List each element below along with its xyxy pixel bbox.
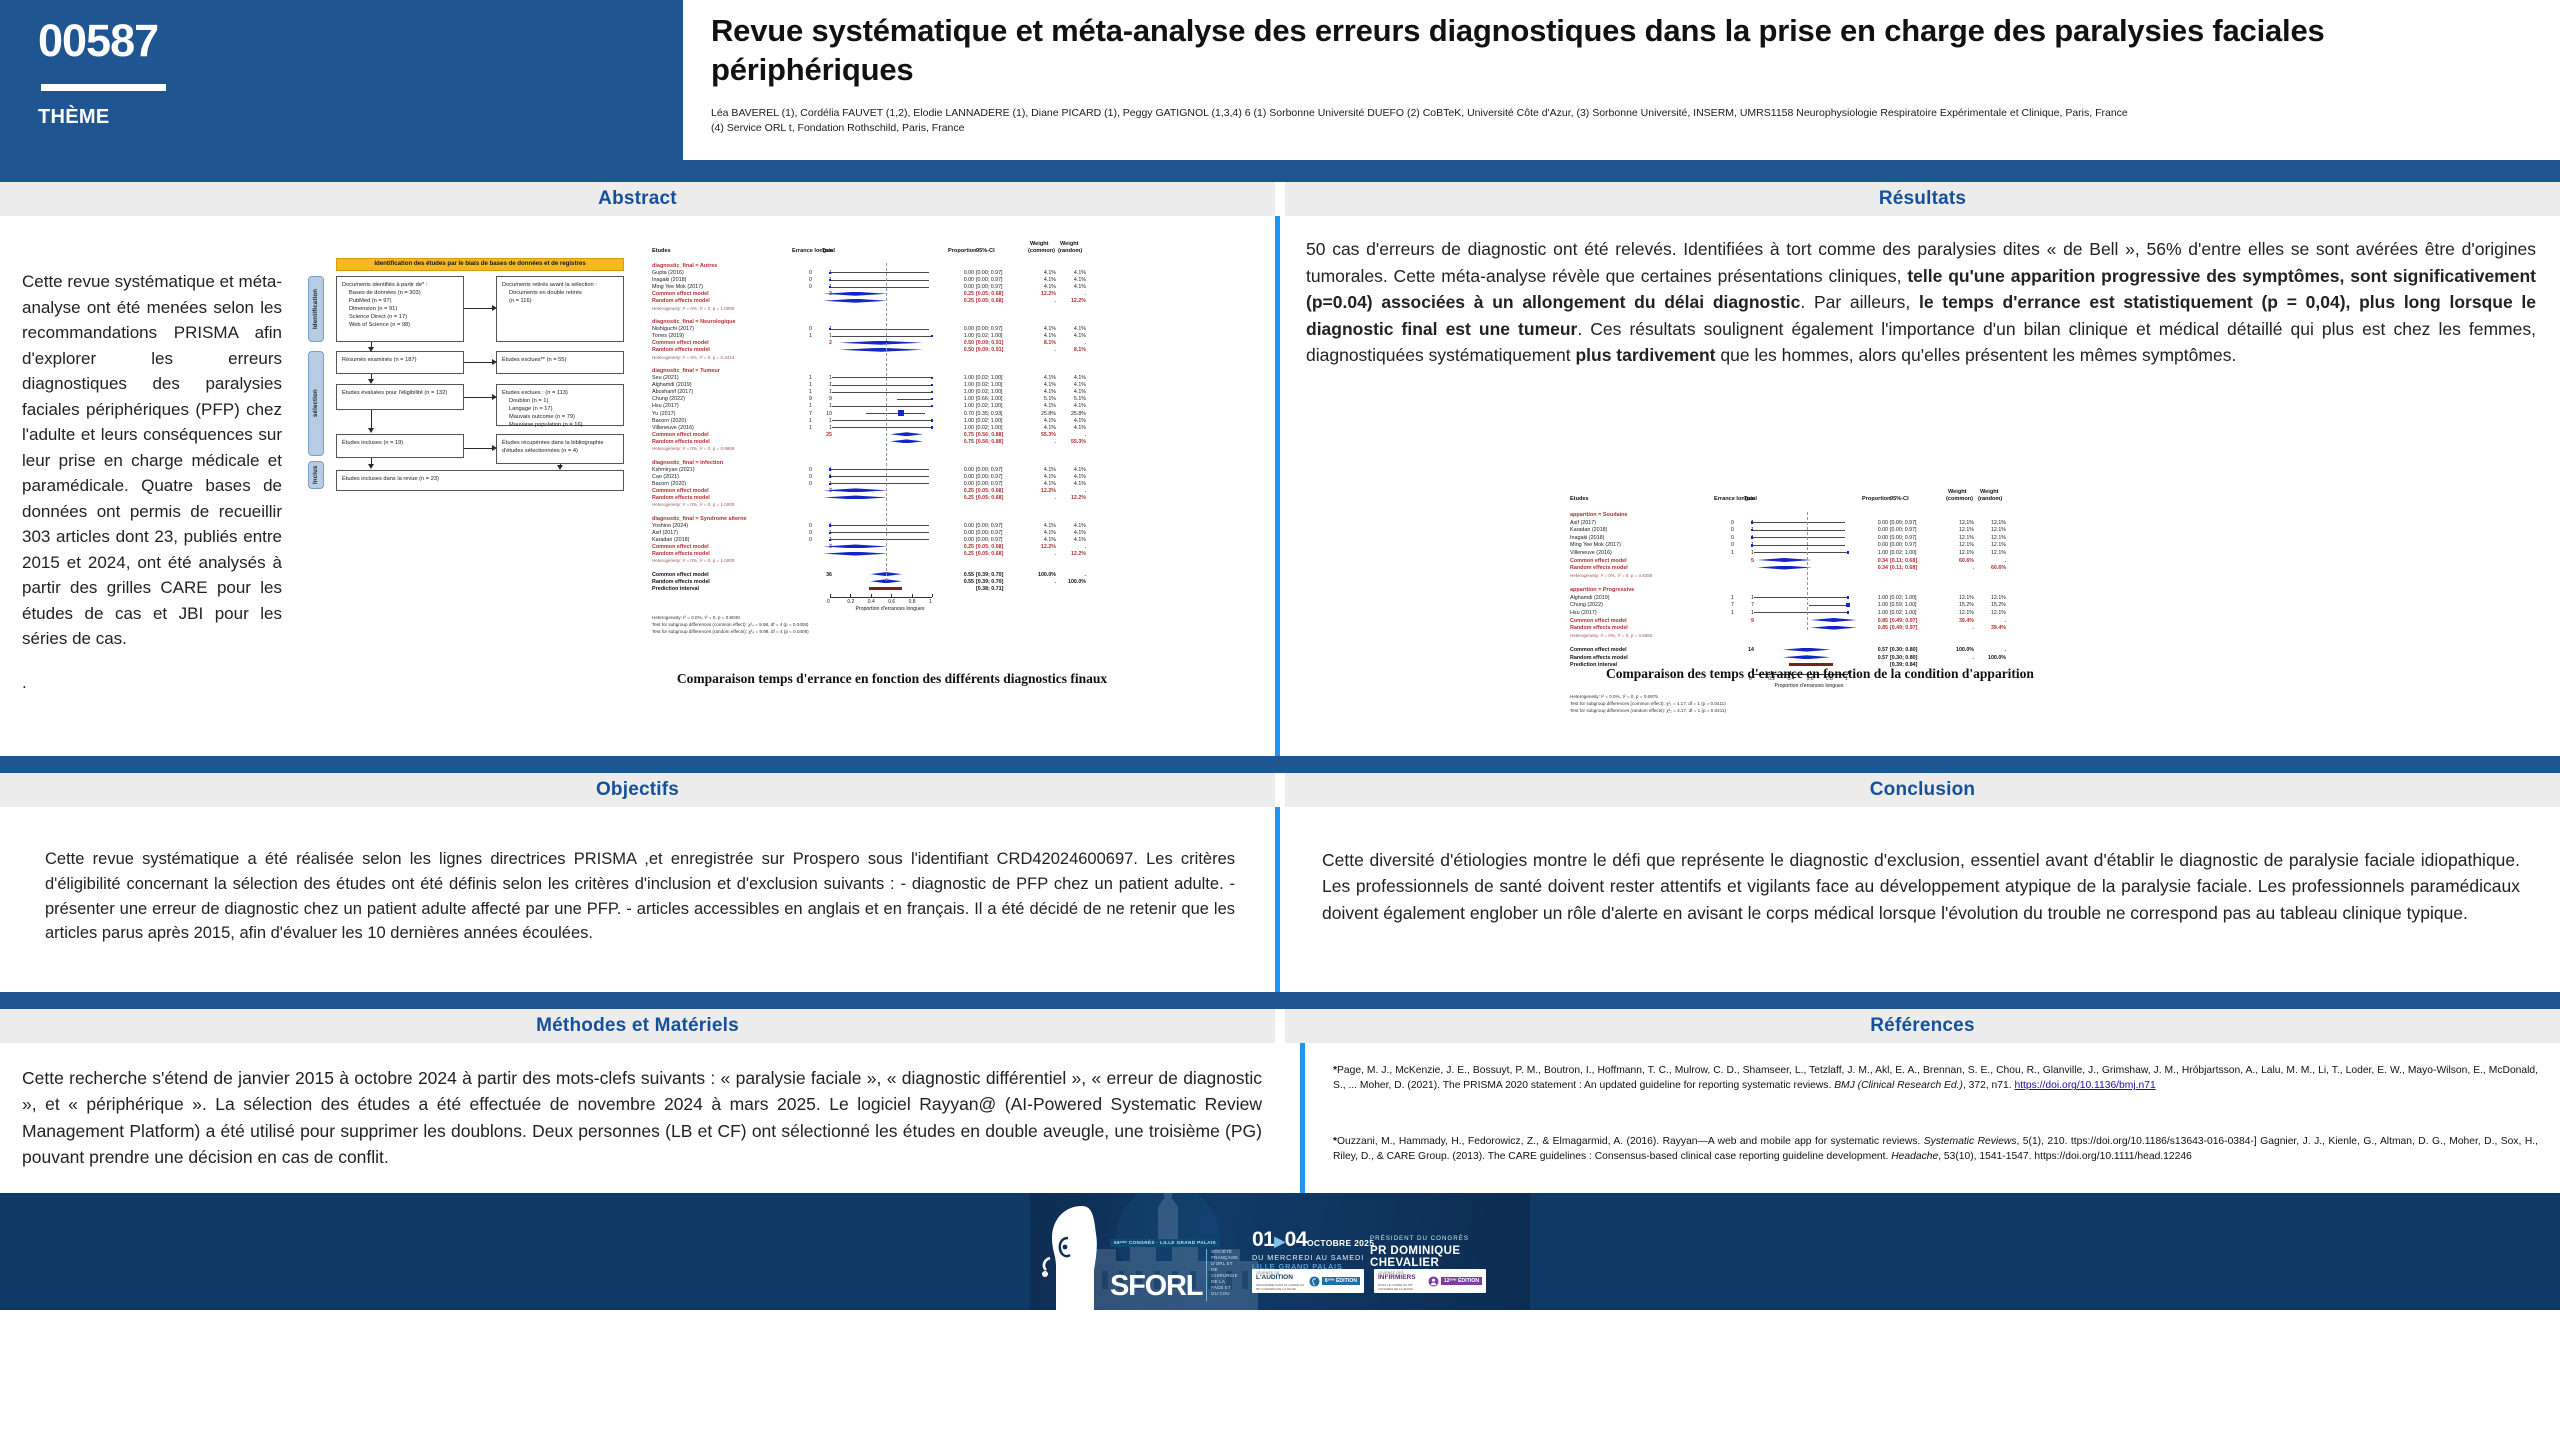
- forest-events: 0: [798, 523, 812, 529]
- forest-proportion: 0.25: [952, 551, 974, 557]
- president-name: PR DOMINIQUE CHEVALIER: [1370, 1245, 1530, 1269]
- conclusion-column: Cette diversité d'étiologies montre le d…: [1275, 807, 2560, 992]
- forest-xlabel: Proportion d'errances longues: [824, 606, 956, 612]
- forest-weight-random: 4.1%: [1062, 530, 1086, 536]
- forest-ci-line: [832, 377, 932, 378]
- forest-events: 9: [798, 396, 812, 402]
- poster-number: 00587: [38, 18, 680, 63]
- forest-proportion: 1.00: [1866, 610, 1888, 616]
- forest-point-marker: [1751, 544, 1754, 547]
- forest-proportion: 1.00: [952, 396, 974, 402]
- forest-weight-common: 12.1%: [1950, 535, 1974, 541]
- forest-ci-line: [830, 287, 929, 288]
- header-blue-bar: [0, 160, 2560, 182]
- prisma-b1-l3: Dimension (n = 91): [342, 305, 458, 313]
- forest-study-label: Inagaki (2018): [1570, 535, 1604, 541]
- forest-weight-random: .: [1982, 558, 2006, 564]
- forest-axis-tick-label: 0.8: [909, 599, 916, 605]
- society-line-3: DE LA FACE ET DU COU: [1211, 1279, 1238, 1297]
- forest-weight-random: 4.1%: [1062, 277, 1086, 283]
- forest-model-label: Common effect model: [1570, 618, 1627, 624]
- forest-model-label: Common effect model: [652, 432, 709, 438]
- forest-ci: [0.00; 0.97]: [976, 284, 1020, 290]
- forest-proportion: 0.34: [1866, 565, 1888, 571]
- forest-point-marker: [829, 328, 831, 330]
- forest-prediction-bar: [869, 587, 903, 590]
- forest-group-label: diagnostic_final = Infection: [652, 460, 723, 466]
- prisma-b7-l2: (n = 19): [383, 440, 403, 446]
- forest-total: 1: [818, 375, 832, 381]
- forest-weight-random: .: [1062, 432, 1086, 438]
- prisma-b8-l3: sélectionnées: [525, 448, 560, 454]
- abstract-column: Cette revue systématique et méta-analyse…: [0, 216, 1275, 756]
- forest-proportion: 0.25: [952, 298, 974, 304]
- forest-point-marker: [829, 475, 831, 477]
- forest-events: 1: [798, 375, 812, 381]
- forest-axis-tick-label: 0.4: [868, 599, 875, 605]
- forest-total: 1: [1740, 610, 1754, 616]
- forest-weight-common: .: [1032, 551, 1056, 557]
- forest-ci-line: [1752, 537, 1845, 538]
- forest-weight-random: .: [1062, 488, 1086, 494]
- forest-study-label: Karadan (2018): [652, 537, 689, 543]
- forest-weight-common: 4.1%: [1032, 277, 1056, 283]
- ref2-journal-1: Systematic Reviews: [1924, 1136, 2017, 1147]
- forest-ci: [0.00; 0.97]: [976, 481, 1020, 487]
- forest-point-marker: [898, 410, 904, 416]
- forest-study-label: Karadan (2018): [1570, 527, 1607, 533]
- forest-weight-random: 4.1%: [1062, 326, 1086, 332]
- section-title-conclusion: Conclusion: [1870, 779, 1975, 801]
- forest-diamond: [823, 292, 887, 296]
- forest-point-marker: [931, 405, 933, 407]
- section-title-methodes: Méthodes et Matériels: [536, 1015, 739, 1037]
- prisma-b6-l3: Langage (n = 17): [502, 405, 618, 413]
- poster-header: 00587 THÈME Revue systématique et méta-a…: [0, 0, 2560, 160]
- forest-plot-apparition: EtudesErrance longueTotalProportion95%-C…: [1570, 496, 2070, 671]
- section-title-abstract: Abstract: [598, 188, 677, 210]
- forest-ci: [0.35; 0.93]: [976, 411, 1020, 417]
- forest-weight-random: .: [1062, 340, 1086, 346]
- forest-total: 1: [818, 389, 832, 395]
- prisma-arrow-3: [464, 362, 493, 363]
- prisma-b3-l1: Résumés examinés: [342, 357, 392, 363]
- forest-study-label: Chung (2022): [652, 396, 685, 402]
- forest-point-marker: [829, 483, 831, 485]
- forest-weight-common: 4.1%: [1032, 425, 1056, 431]
- forest-events: 0: [798, 537, 812, 543]
- forest-diamond: [1811, 618, 1857, 622]
- date-to: 04: [1285, 1228, 1307, 1251]
- forest-study-label: Villeneuve (2016): [652, 425, 694, 431]
- forest-ci: [0.11; 0.68]: [1890, 558, 1934, 564]
- prisma-b2-l1: Documents retirés avant la: [502, 282, 570, 288]
- forest-overall-wr: 100.0%: [1982, 655, 2006, 661]
- ref1-text-b: , 372, n71.: [1963, 1080, 2015, 1091]
- forest-proportion: 1.00: [1866, 550, 1888, 556]
- forest-null-line: [886, 263, 887, 581]
- forest-study-label: Ming Yee Mok (2017): [652, 284, 703, 290]
- prisma-b8-l1: Études récupérées dans la: [502, 440, 570, 446]
- prisma-b1-l1: Bases de données (n = 303): [342, 289, 458, 297]
- forest-overall-ci: [0.30; 0.80]: [1890, 655, 1934, 661]
- forest-weight-random: 15.2%: [1982, 602, 2006, 608]
- forest-events: 7: [798, 411, 812, 417]
- forest-ci: [0.49; 0.97]: [1890, 618, 1934, 624]
- row-abstract-resultats: Cette revue systématique et méta-analyse…: [0, 216, 2560, 756]
- row-methodes-references: Cette recherche s'étend de janvier 2015 …: [0, 1043, 2560, 1193]
- prisma-b4-l1: Études exclues**: [502, 357, 545, 363]
- sforl-logo-block: 59ᵉᵐᵉ CONGRÈS · LILLE GRAND PALAIS SFORL…: [1110, 1231, 1235, 1301]
- forest-ci: [0.02; 1.00]: [976, 403, 1020, 409]
- forest-overall-total: 36: [818, 572, 832, 578]
- forest-proportion: 0.75: [952, 432, 974, 438]
- forest-weight-common: .: [1950, 625, 1974, 631]
- forest-weight-common: 4.1%: [1032, 537, 1056, 543]
- forest-ci-line: [832, 392, 932, 393]
- prisma-b1-l2: PubMed (n = 97): [342, 297, 458, 305]
- forest-events: 0: [798, 530, 812, 536]
- forest-events: 1: [798, 389, 812, 395]
- forest-proportion: 1.00: [952, 425, 974, 431]
- forest-weight-random: .: [1062, 544, 1086, 550]
- forest-proportion: 0.50: [952, 347, 974, 353]
- forest-group-label: apparition = Progressive: [1570, 587, 1634, 593]
- ref2-text-a: Ouzzani, M., Hammady, H., Fedorowicz, Z.…: [1337, 1136, 1924, 1147]
- forest-proportion: 0.00: [952, 537, 974, 543]
- forest-weight-common: .: [1032, 298, 1056, 304]
- date-month: OCTOBRE 2025: [1307, 1238, 1374, 1248]
- forest-group-label: diagnostic_final = Autres: [652, 263, 717, 269]
- forest-model-label: Random effects model: [652, 347, 710, 353]
- forest-study-label: Bacorn (2020): [652, 418, 686, 424]
- forest-ci-line: [1754, 612, 1848, 613]
- forest-ci: [0.56; 0.88]: [976, 432, 1020, 438]
- forest-events: 0: [798, 284, 812, 290]
- forest-footnote: Test for subgroup differences (common ef…: [652, 622, 808, 627]
- prisma-arrowhead-1: [492, 305, 497, 311]
- forest-proportion: 1.00: [1866, 595, 1888, 601]
- forest-col-proportion: Proportion: [948, 248, 977, 254]
- forest-plot-2-caption: Comparaison des temps d'errance en fonct…: [1530, 666, 2110, 682]
- forest-point-marker: [829, 532, 831, 534]
- forest-ci: [0.00; 0.97]: [976, 474, 1020, 480]
- forest-model-label: Random effects model: [1570, 565, 1628, 571]
- prisma-b5-l1: Études évaluées pour l'éligibilité: [342, 390, 423, 396]
- authors-line-2: (4) Service ORL t, Fondation Rothschild,…: [711, 121, 2530, 136]
- forest-weight-random: 4.1%: [1062, 403, 1086, 409]
- prisma-b3-l2: (n = 187): [394, 357, 417, 363]
- forest-study-label: Hsu (2017): [652, 403, 679, 409]
- forest-proportion: 0.00: [952, 474, 974, 480]
- forest-overall-prop: 0.55: [952, 572, 974, 578]
- forest-weight-random: 12.2%: [1062, 495, 1086, 501]
- chip1-edition: 6ᵉᵐᵉ ÉDITION: [1322, 1277, 1360, 1285]
- forest-footnote: Test for subgroup differences (random ef…: [652, 629, 809, 634]
- forest-point-marker: [829, 279, 831, 281]
- prisma-box-included-review: Études incluses dans la revue (n = 23): [336, 470, 624, 491]
- prisma-arrow-5: [464, 397, 493, 398]
- forest-group-label: diagnostic_final = Syndrome alterne: [652, 516, 747, 522]
- header-title-block: Revue systématique et méta-analyse des e…: [680, 0, 2560, 160]
- forest-ci: [0.02; 1.00]: [1890, 595, 1934, 601]
- forest-events: 1: [798, 425, 812, 431]
- forest-point-marker: [829, 539, 831, 541]
- forest-overall-label: Random effects model: [652, 579, 710, 585]
- forest-model-total: 9: [1740, 618, 1754, 624]
- prisma-arrowhead-3: [492, 359, 497, 365]
- forest-study-label: Aboshanif (2017): [652, 389, 693, 395]
- forest-weight-common: 12.1%: [1950, 610, 1974, 616]
- society-line-1: SOCIÉTÉ FRANÇAISE: [1211, 1249, 1238, 1261]
- forest-diamond: [1757, 566, 1812, 570]
- forest-diamond: [890, 432, 923, 436]
- band-gap-3: [1275, 1009, 1285, 1043]
- prisma-box-excluded-full: Études exclues : (n = 113) Doublon (n = …: [496, 384, 624, 426]
- forest-point-marker: [931, 391, 933, 393]
- ear-icon: [1309, 1276, 1320, 1287]
- prisma-box-identified: Documents identifiés à partir de* : Base…: [336, 276, 464, 342]
- forest-model-label: Common effect model: [1570, 558, 1627, 564]
- forest-events: 7: [1720, 602, 1734, 608]
- forest-total: 1: [818, 403, 832, 409]
- resultats-text-g: que les hommes, alors qu'elles présenten…: [1716, 345, 2237, 365]
- forest-overall-wr: .: [1062, 572, 1086, 578]
- forest-ci: [0.05; 0.68]: [976, 298, 1020, 304]
- forest-point-marker: [931, 426, 933, 428]
- forest-events: 0: [798, 467, 812, 473]
- chip1-main: L'AUDITION: [1256, 1275, 1309, 1282]
- forest-overall-wc: 100.0%: [1950, 647, 1974, 653]
- forest-overall-wc: .: [1950, 655, 1974, 661]
- forest-weight-random: 4.1%: [1062, 467, 1086, 473]
- prisma-b9-l2: (n = 23): [419, 476, 439, 482]
- forest-col-etudes: Etudes: [1570, 496, 1589, 502]
- forest-weight-random: 5.1%: [1062, 396, 1086, 402]
- forest-proportion: 0.00: [952, 270, 974, 276]
- forest-diamond: [823, 495, 887, 499]
- prisma-b1-l4: Science Direct (n = 17): [342, 313, 458, 321]
- forest-weight-common: 12.1%: [1950, 527, 1974, 533]
- forest-study-label: Alghamdi (2019): [652, 382, 692, 388]
- forest-col-weight-label-2: Weight: [1980, 489, 1999, 495]
- ref2-journal-2: Headache: [1891, 1151, 1938, 1162]
- forest-point-marker: [829, 524, 831, 526]
- date-arrow-icon: ▶: [1274, 1233, 1284, 1249]
- forest-weight-common: 25.8%: [1032, 411, 1056, 417]
- forest-weight-random: 25.8%: [1062, 411, 1086, 417]
- forest-weight-random: 12.1%: [1982, 595, 2006, 601]
- forest-events: 0: [798, 326, 812, 332]
- forest-weight-common: 4.1%: [1032, 523, 1056, 529]
- forest-ci-line: [830, 329, 929, 330]
- forest-footnote: Heterogeneity: I² = 0.0%, τ² = 0, p = 0.…: [1570, 694, 1658, 699]
- forest-point-marker: [829, 468, 831, 470]
- forest-ci-line: [1754, 597, 1848, 598]
- date-weekday-range: DU MERCREDI AU SAMEDI: [1252, 1253, 1374, 1262]
- forest-ci: [0.59; 1.00]: [1890, 602, 1934, 608]
- forest-heterogeneity: Heterogeneity: I² = 0%, τ² = 0, p = 1.00…: [652, 306, 734, 311]
- section-header-conclusion: Conclusion: [1285, 773, 2560, 807]
- forest-weight-random: 4.1%: [1062, 375, 1086, 381]
- forest-heterogeneity: Heterogeneity: I² = 0%, τ² = 0, p = 0.98…: [652, 446, 734, 451]
- forest-diamond: [890, 439, 923, 443]
- prisma-b4-l2: (n = 55): [547, 357, 567, 363]
- forest-weight-common: 4.1%: [1032, 403, 1056, 409]
- forest-ci: [0.02; 1.00]: [976, 425, 1020, 431]
- forest-col-weight-common: (common): [1946, 496, 1973, 502]
- forest-point-marker: [829, 272, 831, 274]
- prisma-box-removed: Documents retirés avant la sélection : D…: [496, 276, 624, 342]
- ear-profile-illustration: [1038, 1200, 1100, 1310]
- forest-proportion: 0.85: [1866, 618, 1888, 624]
- forest-axis-tick: [871, 594, 872, 597]
- forest-ci: [0.05; 0.68]: [976, 291, 1020, 297]
- forest-model-total: 3: [818, 544, 832, 550]
- forest-study-label: Inagaki (2018): [652, 277, 686, 283]
- forest-weight-common: 4.1%: [1032, 418, 1056, 424]
- forest-col-total: Total: [1744, 496, 1757, 502]
- prisma-arrowhead-7: [492, 445, 497, 451]
- forest-ci-line: [830, 476, 929, 477]
- row-objectifs-conclusion: Cette revue systématique a été réalisée …: [0, 807, 2560, 992]
- forest-ci: [0.00; 0.97]: [976, 537, 1020, 543]
- forest-ci-line: [832, 427, 932, 428]
- methodes-column: Cette recherche s'étend de janvier 2015 …: [0, 1043, 1300, 1193]
- forest-weight-common: .: [1032, 347, 1056, 353]
- forest-point-marker: [1846, 603, 1850, 607]
- forest-model-total: 5: [1740, 558, 1754, 564]
- forest-col-ci: 95%-CI: [1890, 496, 1909, 502]
- forest-total: 1: [818, 425, 832, 431]
- forest-weight-common: 12.2%: [1032, 488, 1056, 494]
- prisma-b2-l3: Documents en double retirés: [502, 289, 618, 297]
- forest-axis-line: [830, 597, 932, 598]
- forest-events: 1: [798, 418, 812, 424]
- section-title-resultats: Résultats: [1879, 188, 1966, 210]
- forest-weight-common: 12.1%: [1950, 595, 1974, 601]
- prisma-arrow-6: [371, 410, 372, 429]
- forest-ci-line: [830, 525, 929, 526]
- prisma-header-banner: Identification des études par le biais d…: [336, 258, 624, 271]
- forest-xlabel: Proportion d'errances longues: [1746, 683, 1872, 689]
- forest-events: 1: [798, 333, 812, 339]
- forest-ci-line: [830, 532, 929, 533]
- forest-heterogeneity: Heterogeneity: I² = 0%, τ² = 0, p = 1.00…: [652, 502, 734, 507]
- forest-ci: [0.02; 1.00]: [976, 382, 1020, 388]
- forest-model-label: Common effect model: [652, 340, 709, 346]
- prisma-b6-l1: Études exclues : (n = 113): [502, 390, 568, 396]
- forest-proportion: 0.00: [952, 277, 974, 283]
- prisma-arrowhead-8: [368, 464, 374, 469]
- forest-axis-tick: [932, 594, 933, 597]
- forest-proportion: 0.25: [952, 495, 974, 501]
- resultats-text-f: plus tardivement: [1575, 345, 1715, 365]
- forest-weight-random: 12.1%: [1982, 527, 2006, 533]
- forest-weight-common: 12.2%: [1032, 544, 1056, 550]
- forest-plot-diagnostic-final: EtudesErrance longueTotalProportion95%-C…: [652, 248, 1132, 668]
- forest-col-weight-common: (common): [1028, 248, 1055, 254]
- forest-events: 1: [1720, 610, 1734, 616]
- prisma-b9-l1: Études incluses dans la revue: [342, 476, 418, 482]
- prisma-b6-l4: Mauvais outcome (n = 79): [502, 413, 618, 421]
- forest-proportion: 1.00: [952, 403, 974, 409]
- forest-heterogeneity: Heterogeneity: I² = 0%, τ² = 0, p = 1.00…: [652, 558, 734, 563]
- divider-blue-bar-1: [0, 756, 2560, 773]
- band-abstract-resultats: Abstract Résultats: [0, 182, 2560, 216]
- forest-events: 1: [1720, 550, 1734, 556]
- abstract-body: Cette revue systématique et méta-analyse…: [0, 234, 300, 756]
- forest-ci-line: [866, 413, 925, 414]
- forest-study-label: Yoshino (2024): [652, 523, 688, 529]
- forest-ci: [0.00; 0.97]: [976, 467, 1020, 473]
- forest-ci-line: [830, 483, 929, 484]
- reference-entry-1: *Page, M. J., McKenzie, J. E., Bossuyt, …: [1333, 1063, 2538, 1094]
- band-gap-1: [1275, 182, 1285, 216]
- forest-overall-wc: 100.0%: [1032, 572, 1056, 578]
- forest-ci: [0.05; 0.68]: [976, 544, 1020, 550]
- forest-ci-line: [1754, 552, 1848, 553]
- forest-point-marker: [931, 384, 933, 386]
- forest-total: 1: [818, 418, 832, 424]
- forest-ci: [0.02; 1.00]: [1890, 610, 1934, 616]
- forest-overall-wr: .: [1982, 647, 2006, 653]
- forest-overall-total: 14: [1740, 647, 1754, 653]
- ref1-journal: BMJ (Clinical Research Ed.): [1834, 1080, 1963, 1091]
- prisma-box-excluded-abstracts: Études exclues** (n = 55): [496, 351, 624, 374]
- forest-weight-random: 4.1%: [1062, 481, 1086, 487]
- forest-overall-wr: 100.0%: [1062, 579, 1086, 585]
- forest-weight-common: 4.1%: [1032, 389, 1056, 395]
- prisma-b1-title: Documents identifiés à partir de* :: [342, 282, 427, 288]
- forest-diamond: [823, 299, 887, 303]
- forest-point-marker: [1847, 551, 1850, 554]
- forest-proportion: 1.00: [952, 375, 974, 381]
- ref1-doi-link[interactable]: https://doi.org/10.1136/bmj.n71: [2014, 1080, 2155, 1091]
- forest-overall-ci: [0.39; 0.70]: [976, 579, 1020, 585]
- forest-ci-line: [1752, 522, 1845, 523]
- chip2-sub: DANS LE CADRE DU 59ᵉ CONGRÈS DE LA SFORL: [1378, 1283, 1428, 1291]
- forest-weight-random: 60.6%: [1982, 565, 2006, 571]
- forest-overall-prop: 0.57: [1866, 655, 1888, 661]
- forest-weight-common: 4.1%: [1032, 333, 1056, 339]
- forest-axis-tick-label: 1: [929, 599, 932, 605]
- forest-study-label: Yu (2017): [652, 411, 675, 417]
- prisma-box-included-studies: Études incluses (n = 19): [336, 434, 464, 458]
- forest-heterogeneity: Heterogeneity: I² = 0%, τ² = 0, p = 0.68…: [1570, 633, 1652, 638]
- forest-events: 0: [1720, 520, 1734, 526]
- forest-weight-random: 4.1%: [1062, 474, 1086, 480]
- forest-overall-wc: .: [1032, 579, 1056, 585]
- forest-events: 0: [798, 270, 812, 276]
- forest-col-weight-label-1: Weight: [1030, 241, 1049, 247]
- forest-events: 1: [1720, 595, 1734, 601]
- header-divider-rule: [41, 84, 166, 91]
- forest-footnote: Heterogeneity: I² = 0.0%, τ² = 0, p = 0.…: [652, 615, 740, 620]
- forest-group-label: diagnostic_final = Tumeur: [652, 368, 720, 374]
- forest-ci: [0.00; 0.97]: [976, 530, 1020, 536]
- forest-diamond: [1783, 648, 1831, 652]
- forest-ci: [0.00; 0.97]: [976, 277, 1020, 283]
- prisma-flow-diagram: Identification sélection Inclus Identifi…: [308, 256, 638, 491]
- forest-ci: [0.02; 1.00]: [976, 418, 1020, 424]
- abstract-trailing-dot: .: [22, 670, 282, 696]
- ref2-text-c: , 53(10), 1541-1547. https://doi.org/10.…: [1938, 1151, 2192, 1162]
- forest-weight-common: 4.1%: [1032, 382, 1056, 388]
- forest-model-label: Random effects model: [652, 495, 710, 501]
- forest-point-marker: [1751, 536, 1754, 539]
- forest-col-etudes: Etudes: [652, 248, 671, 254]
